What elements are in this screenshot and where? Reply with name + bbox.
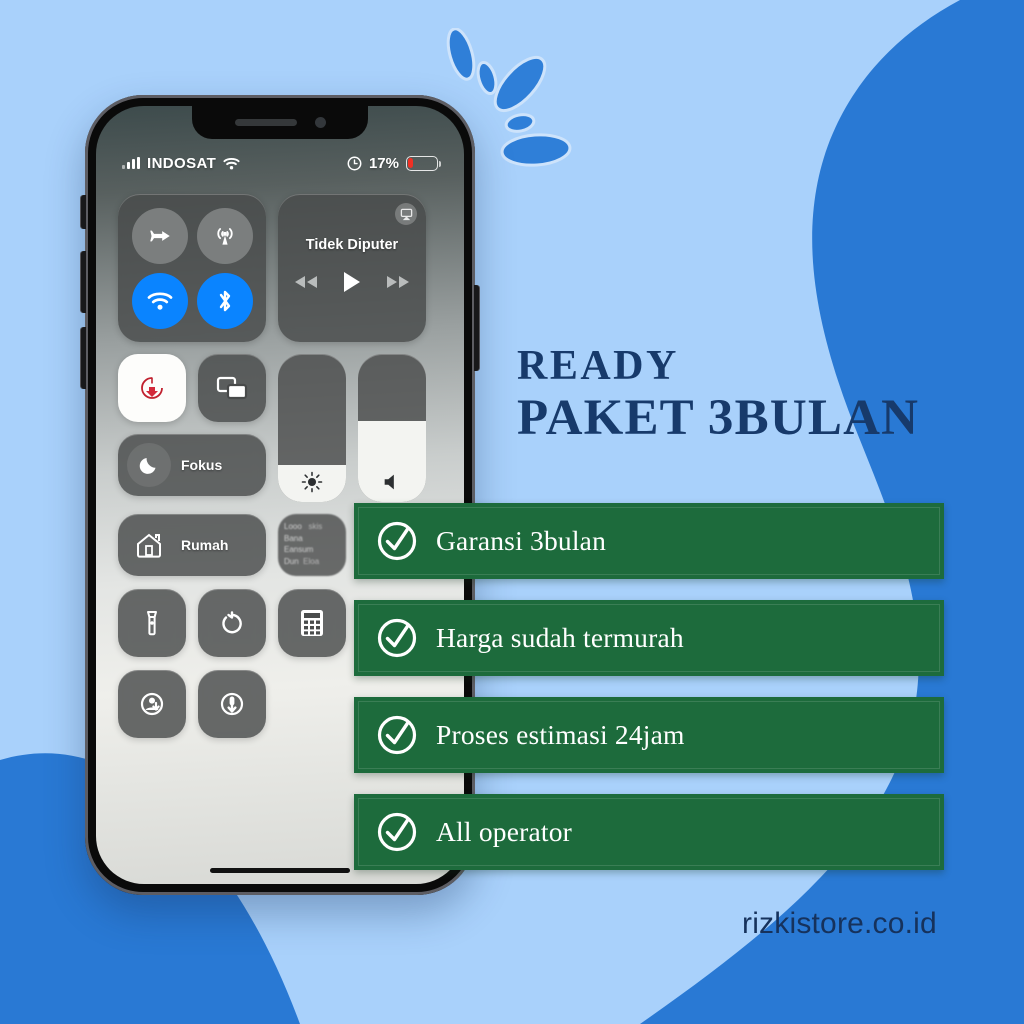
play-icon (341, 270, 363, 294)
brightness-fill (278, 465, 346, 502)
text-widget-tile[interactable]: Looo skis Bana Eansum Dun Eloa (278, 514, 346, 576)
headline-line-1: READY (517, 345, 919, 388)
check-circle-icon (374, 518, 420, 564)
volume-slider[interactable] (358, 354, 426, 502)
hearing-down-icon (136, 688, 168, 720)
home-app-button[interactable]: Rumah (118, 514, 266, 576)
flashlight-icon (137, 608, 167, 638)
home-indicator-bar[interactable] (210, 868, 350, 874)
feature-banner[interactable]: Proses estimasi 24jam (354, 697, 944, 773)
rewind-icon (293, 274, 319, 290)
alarm-clock-icon (347, 156, 362, 171)
brightness-sun-icon (301, 471, 323, 493)
signal-bars-icon (122, 157, 140, 169)
media-title: Tidek Diputer (306, 237, 398, 253)
flashlight-button[interactable] (118, 589, 186, 657)
mic-down-icon (216, 688, 248, 720)
hearing-button[interactable] (118, 670, 186, 738)
timer-button[interactable] (198, 589, 266, 657)
feature-label: Proses estimasi 24jam (436, 719, 685, 751)
feature-label: All operator (436, 816, 572, 848)
focus-toggle[interactable]: Fokus (118, 434, 266, 496)
forward-icon (385, 274, 411, 290)
volume-icon (381, 471, 403, 493)
feature-banner-list: Garansi 3bulan Harga sudah termurah Pros… (354, 503, 944, 870)
wifi-icon (223, 157, 240, 170)
forward-button[interactable] (385, 274, 411, 295)
sound-recognition-button[interactable] (198, 670, 266, 738)
website-label: rizkistore.co.id (742, 907, 937, 941)
cellular-antenna-icon (211, 222, 239, 250)
front-camera-icon (315, 117, 326, 128)
earpiece-speaker-icon (235, 119, 297, 126)
check-circle-icon (374, 712, 420, 758)
rotation-lock-icon (136, 372, 168, 404)
poster-canvas: INDOSAT 17% (0, 0, 1024, 1024)
check-circle-icon (374, 615, 420, 661)
cellular-data-toggle[interactable] (197, 208, 253, 264)
page-title: READY PAKET 3BULAN (517, 345, 919, 444)
focus-label: Fokus (181, 457, 222, 473)
text-tile-line-4: Dun (284, 557, 299, 566)
rotation-lock-toggle[interactable] (118, 354, 186, 422)
home-label: Rumah (181, 537, 228, 553)
text-tile-line-2b: skis (308, 522, 322, 531)
status-bar: INDOSAT 17% (96, 150, 464, 176)
text-tile-line-1: Looo (284, 522, 302, 531)
timer-icon (217, 608, 247, 638)
phone-volume-up-button[interactable] (81, 251, 86, 313)
airplay-icon[interactable] (395, 203, 417, 225)
headline-line-2: PAKET 3BULAN (517, 392, 919, 444)
rewind-button[interactable] (293, 274, 319, 295)
battery-percent-label: 17% (369, 155, 399, 172)
media-player-tile: Tidek Diputer (278, 194, 426, 342)
brightness-slider[interactable] (278, 354, 346, 502)
feature-banner[interactable]: Harga sudah termurah (354, 600, 944, 676)
wifi-toggle[interactable] (132, 273, 188, 329)
feature-label: Garansi 3bulan (436, 525, 606, 557)
carrier-label: INDOSAT (147, 155, 216, 172)
screen-mirroring-icon (216, 374, 248, 402)
play-button[interactable] (341, 270, 363, 299)
airplane-icon (147, 223, 173, 249)
bluetooth-toggle[interactable] (197, 273, 253, 329)
connectivity-tile (118, 194, 266, 342)
calculator-icon (299, 608, 325, 638)
wifi-icon (146, 290, 174, 312)
home-icon (127, 523, 171, 567)
phone-volume-down-button[interactable] (81, 327, 86, 389)
text-tile-line-3: Eansum (284, 544, 340, 556)
calculator-button[interactable] (278, 589, 346, 657)
text-tile-line-2: Bana (284, 533, 340, 545)
battery-low-icon (406, 156, 438, 171)
phone-power-button[interactable] (474, 285, 479, 371)
check-circle-icon (374, 809, 420, 855)
feature-banner[interactable]: Garansi 3bulan (354, 503, 944, 579)
screen-mirroring-toggle[interactable] (198, 354, 266, 422)
bluetooth-icon (213, 287, 237, 315)
phone-mute-switch[interactable] (81, 195, 86, 229)
phone-notch (192, 106, 368, 139)
feature-label: Harga sudah termurah (436, 622, 684, 654)
feature-banner[interactable]: All operator (354, 794, 944, 870)
volume-fill (358, 421, 426, 502)
airplane-mode-toggle[interactable] (132, 208, 188, 264)
text-tile-line-4b: Eloa (303, 557, 319, 566)
moon-icon (127, 443, 171, 487)
